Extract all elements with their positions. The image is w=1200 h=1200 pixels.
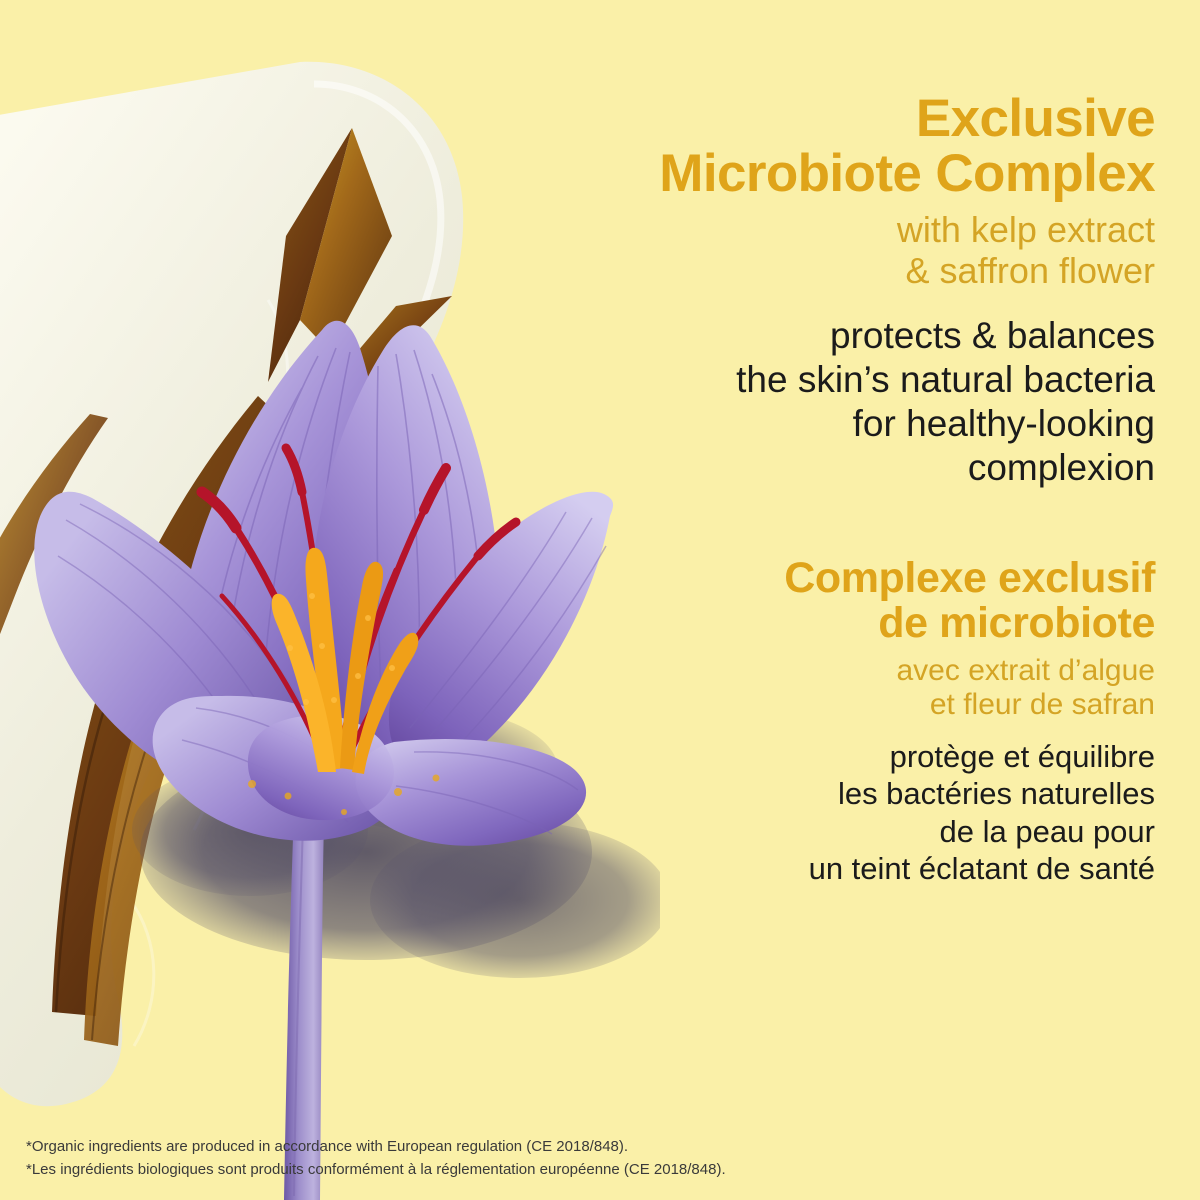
french-body: protège et équilibre les bactéries natur…: [515, 738, 1155, 887]
french-copy-block: Complexe exclusif de microbiote avec ext…: [515, 556, 1155, 887]
footnote-english: *Organic ingredients are produced in acc…: [26, 1135, 726, 1159]
french-heading: Complexe exclusif de microbiote: [515, 556, 1155, 646]
english-copy-block: Exclusive Microbiote Complex with kelp e…: [515, 92, 1155, 490]
footnote-french: *Les ingrédients biologiques sont produi…: [26, 1158, 726, 1182]
marketing-copy: Exclusive Microbiote Complex with kelp e…: [515, 92, 1155, 887]
french-subheading: avec extrait d’algue et fleur de safran: [515, 654, 1155, 722]
english-body: protects & balances the skin’s natural b…: [515, 314, 1155, 490]
english-heading: Exclusive Microbiote Complex: [515, 92, 1155, 201]
footnotes: *Organic ingredients are produced in acc…: [26, 1135, 726, 1182]
english-subheading: with kelp extract & saffron flower: [515, 210, 1155, 291]
promo-banner: Exclusive Microbiote Complex with kelp e…: [0, 0, 1200, 1200]
